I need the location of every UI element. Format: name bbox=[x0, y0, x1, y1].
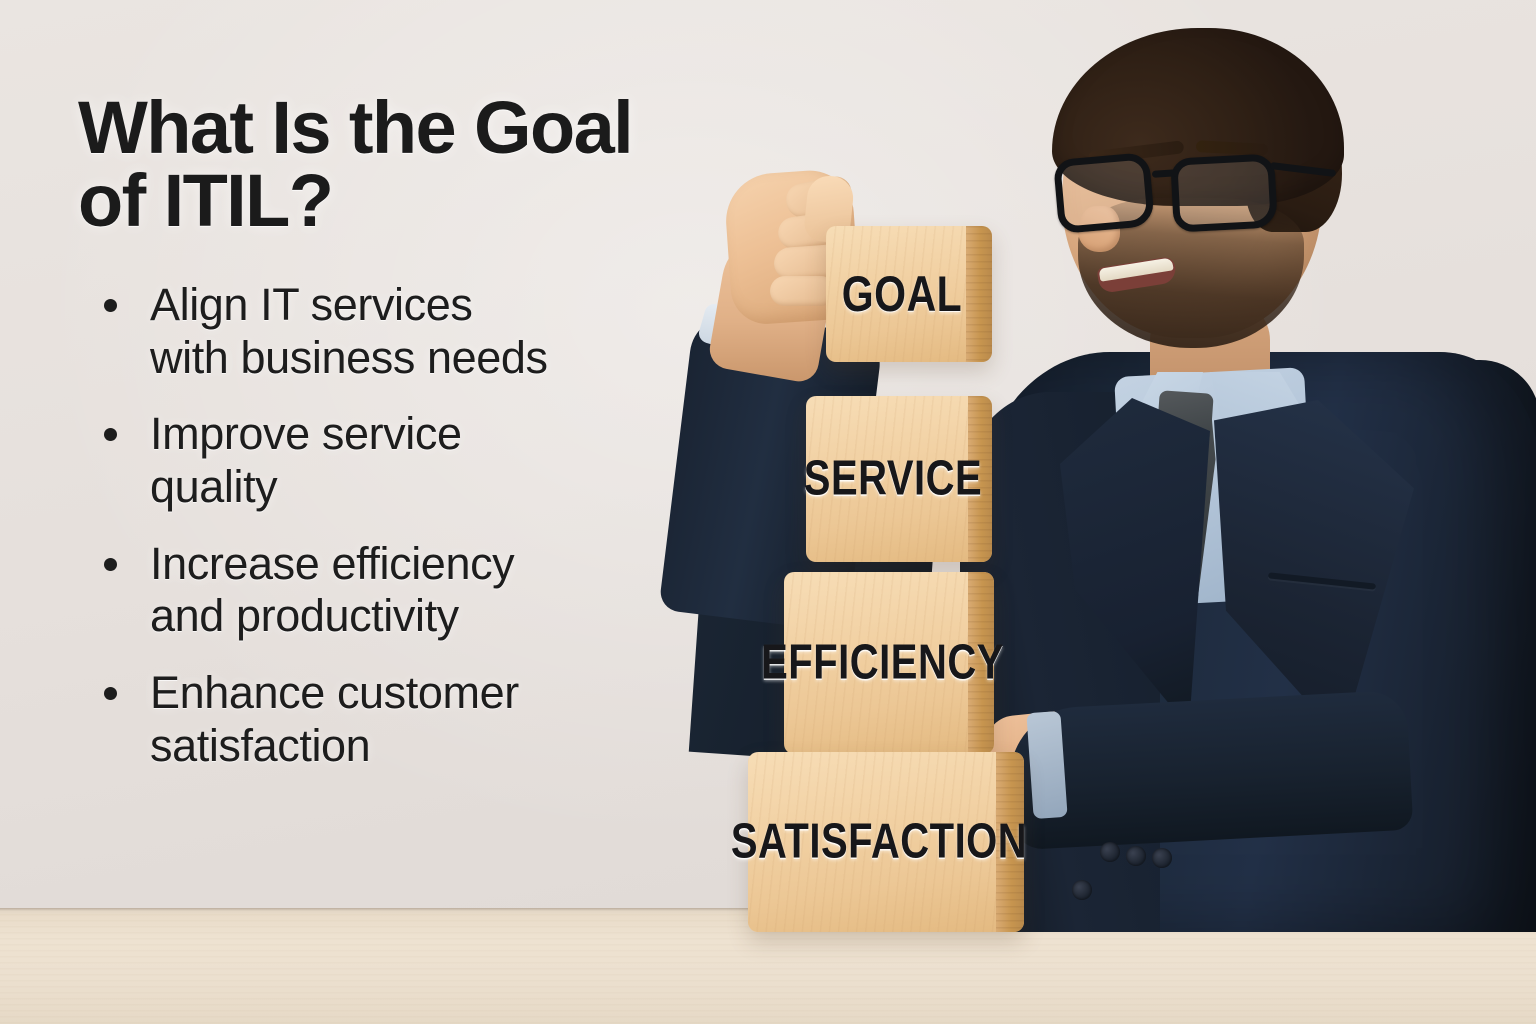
benefits-list: Align IT services with business needs Im… bbox=[78, 279, 738, 772]
block-side-face bbox=[966, 226, 992, 362]
wooden-block-efficiency: EFFICIENCY bbox=[784, 572, 994, 754]
list-item: Improve service quality bbox=[78, 408, 738, 513]
slide-canvas: GOAL SERVICE EFFICIENCY SATISFACTION Wha… bbox=[0, 0, 1536, 1024]
list-item: Align IT services with business needs bbox=[78, 279, 738, 384]
list-item: Increase efficiency and productivity bbox=[78, 538, 738, 643]
wooden-block-goal: GOAL bbox=[826, 226, 992, 362]
block-label-satisfaction: SATISFACTION bbox=[731, 815, 1027, 870]
text-column: What Is the Goal of ITIL? Align IT servi… bbox=[78, 92, 738, 796]
block-label-efficiency: EFFICIENCY bbox=[761, 636, 1004, 691]
list-item: Enhance customer satisfaction bbox=[78, 667, 738, 772]
wooden-block-satisfaction: SATISFACTION bbox=[748, 752, 1024, 932]
page-title: What Is the Goal of ITIL? bbox=[78, 92, 738, 237]
block-label-goal: GOAL bbox=[842, 265, 962, 322]
block-label-service: SERVICE bbox=[804, 452, 982, 507]
wooden-block-service: SERVICE bbox=[806, 396, 992, 562]
